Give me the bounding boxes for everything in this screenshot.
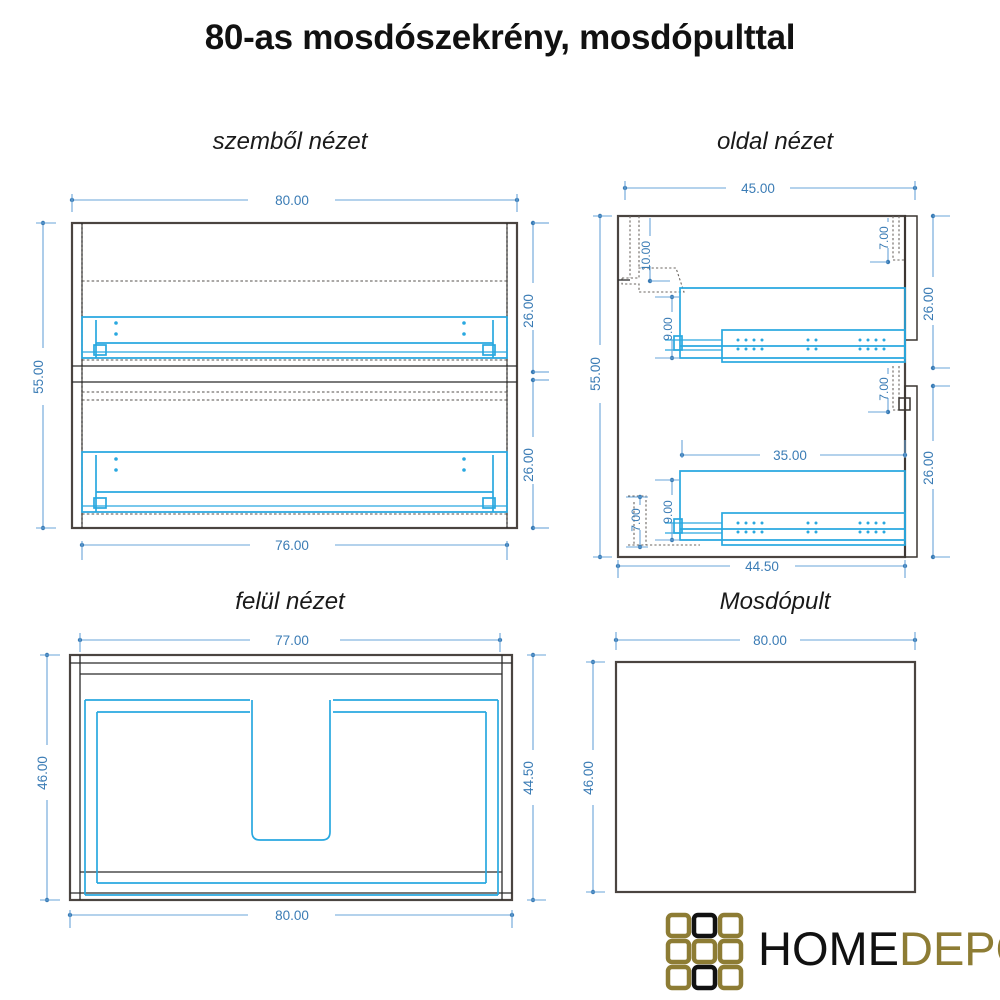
countertop-dim-depth: 46.00 <box>581 660 605 894</box>
side-dim-slide-offset-upper-text: 9.00 <box>661 317 675 341</box>
front-dim-right-upper-text: 26.00 <box>521 294 536 328</box>
countertop-view-group: 80.00 46.00 <box>581 632 917 894</box>
countertop-panel <box>616 662 915 892</box>
brand-logo-depo: DEPO <box>899 922 1000 975</box>
front-dim-bottom-width: 76.00 <box>80 538 509 560</box>
side-dim-slide-offset-lower-text: 9.00 <box>661 500 675 524</box>
front-dim-right-upper: 26.00 <box>521 221 549 374</box>
side-view-group: 45.00 55.00 26.00 <box>588 181 950 578</box>
brand-logo-text: HOMEDEPO <box>758 918 1000 980</box>
front-view-group: 80.00 55.00 26.00 <box>31 193 549 560</box>
front-dim-right-lower: 26.00 <box>521 378 549 530</box>
top-dim-right-depth-text: 44.50 <box>521 761 536 795</box>
side-dim-notch-mid-text: 7.00 <box>877 377 891 401</box>
side-dim-drawer-depth-text: 35.00 <box>773 448 807 463</box>
side-dim-notch-top-text: 7.00 <box>877 226 891 250</box>
countertop-dim-width: 80.00 <box>614 632 917 650</box>
top-dim-outer-width: 77.00 <box>78 633 502 652</box>
side-dim-right-lower: 26.00 <box>921 384 950 559</box>
top-cabinet-body <box>70 655 512 900</box>
brand-logo-home: HOME <box>758 922 899 975</box>
side-dim-left-height-text: 55.00 <box>588 357 603 391</box>
front-cabinet-body <box>72 223 517 528</box>
front-dim-top-width: 80.00 <box>70 193 519 212</box>
countertop-dim-depth-text: 46.00 <box>581 761 596 795</box>
side-dim-bracket-drop-text: 10.00 <box>639 241 653 271</box>
front-dim-right-lower-text: 26.00 <box>521 448 536 482</box>
front-dim-left-height: 55.00 <box>31 221 56 530</box>
drawing-sheet: 80-as mosdószekrény, mosdópulttal szembő… <box>0 0 1000 1000</box>
side-dim-left-height: 55.00 <box>588 214 612 559</box>
front-dim-top-width-text: 80.00 <box>275 193 309 208</box>
side-dim-notch-bottom-text: 7.00 <box>629 508 643 532</box>
countertop-dim-width-text: 80.00 <box>753 633 787 648</box>
top-dim-bottom-width: 80.00 <box>68 908 514 928</box>
top-dim-left-depth: 46.00 <box>35 653 60 902</box>
technical-drawing-canvas: .dimline{stroke:#6aa4d8;stroke-width:1.1… <box>0 0 1000 1000</box>
side-dim-right-lower-text: 26.00 <box>921 451 936 485</box>
side-dim-right-upper-text: 26.00 <box>921 287 936 321</box>
side-dim-top-width-text: 45.00 <box>741 181 775 196</box>
side-dim-bottom-width-text: 44.50 <box>745 559 779 574</box>
top-dim-right-depth: 44.50 <box>521 653 546 902</box>
side-dim-bottom-width: 44.50 <box>616 559 907 578</box>
front-dim-left-height-text: 55.00 <box>31 360 46 394</box>
side-dim-top-width: 45.00 <box>623 181 917 200</box>
top-view-group: 77.00 75.80 12.00 <box>35 633 546 928</box>
top-dim-left-depth-text: 46.00 <box>35 756 50 790</box>
top-dim-bottom-width-text: 80.00 <box>275 908 309 923</box>
brand-logo: HOMEDEPO <box>660 905 990 995</box>
side-dim-right-upper: 26.00 <box>921 214 950 370</box>
front-dim-bottom-width-text: 76.00 <box>275 538 309 553</box>
top-dim-outer-width-text: 77.00 <box>275 633 309 648</box>
